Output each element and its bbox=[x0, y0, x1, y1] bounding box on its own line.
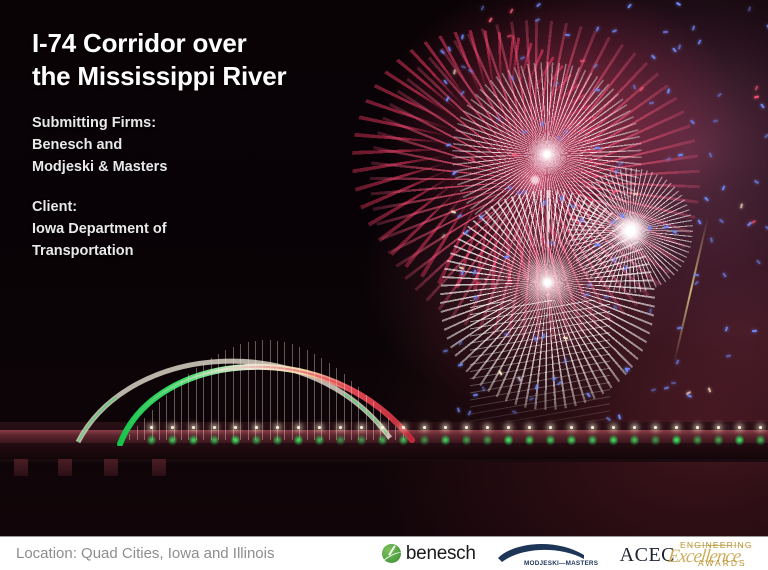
glitter-spark bbox=[666, 157, 671, 161]
glitter-spark bbox=[541, 121, 545, 126]
deck-lamp bbox=[759, 426, 762, 429]
glitter-spark bbox=[639, 86, 644, 91]
glitter-spark bbox=[450, 210, 455, 213]
glitter-spark bbox=[754, 95, 759, 98]
glitter-spark bbox=[565, 34, 570, 36]
glitter-spark bbox=[751, 220, 756, 224]
deck-green-glow bbox=[231, 434, 240, 446]
glitter-spark bbox=[647, 225, 651, 230]
hanger-cable bbox=[344, 374, 345, 440]
glitter-spark bbox=[664, 225, 669, 228]
glitter-spark bbox=[710, 238, 713, 243]
glitter-spark bbox=[587, 282, 592, 287]
glitter-spark bbox=[580, 60, 585, 62]
location-text: Location: Quad Cities, Iowa and Illinois bbox=[16, 545, 274, 562]
glitter-spark bbox=[667, 88, 670, 93]
deck-lamp bbox=[318, 426, 321, 429]
glitter-spark bbox=[740, 204, 743, 209]
deck-lamp bbox=[675, 426, 678, 429]
deck-green-glow bbox=[399, 434, 408, 446]
glitter-spark bbox=[476, 282, 481, 285]
deck-green-glow bbox=[588, 434, 597, 446]
deck-green-glow bbox=[336, 434, 345, 446]
glitter-spark bbox=[722, 272, 727, 277]
deck-green-glow bbox=[273, 434, 282, 446]
submitting-firms-block: Submitting Firms: Benesch and Modjeski &… bbox=[32, 112, 372, 178]
glitter-spark bbox=[595, 147, 600, 149]
benesch-logo: benesch bbox=[382, 544, 476, 563]
hanger-cable bbox=[188, 374, 189, 440]
deck-green-glow bbox=[609, 434, 618, 446]
glitter-spark bbox=[612, 189, 617, 194]
glitter-spark bbox=[560, 195, 563, 200]
hanger-cable bbox=[292, 344, 293, 440]
deck-green-glow bbox=[630, 434, 639, 446]
deck-green-glow bbox=[567, 434, 576, 446]
deck-green-glow bbox=[420, 434, 429, 446]
deck-lamp bbox=[633, 426, 636, 429]
glitter-spark bbox=[672, 48, 677, 53]
glitter-spark bbox=[633, 85, 637, 90]
glitter-spark bbox=[488, 17, 492, 22]
modjeski-wordmark: MODJESKI—MASTERS bbox=[524, 560, 598, 567]
client-block: Client: Iowa Department of Transportatio… bbox=[32, 196, 372, 262]
deck-lamp bbox=[150, 426, 153, 429]
glitter-spark bbox=[719, 218, 724, 223]
deck-lamp bbox=[486, 426, 489, 429]
deck-green-glow bbox=[462, 434, 471, 446]
deck-lamp bbox=[507, 426, 510, 429]
glitter-spark bbox=[698, 39, 702, 44]
deck-lamp bbox=[549, 426, 552, 429]
deck-lamp bbox=[696, 426, 699, 429]
glitter-spark bbox=[633, 192, 638, 195]
glitter-spark bbox=[456, 214, 461, 218]
deck-lamp bbox=[213, 426, 216, 429]
deck-lamp bbox=[192, 426, 195, 429]
deck-lamp bbox=[528, 426, 531, 429]
modjeski-masters-logo: MODJESKI—MASTERS bbox=[498, 541, 598, 567]
glitter-spark bbox=[510, 75, 513, 80]
hanger-cable bbox=[196, 368, 197, 440]
glitter-spark bbox=[690, 119, 695, 124]
deck-lamp bbox=[234, 426, 237, 429]
glitter-spark bbox=[593, 63, 598, 68]
deck-lamp bbox=[339, 426, 342, 429]
deck-green-glow bbox=[714, 434, 723, 446]
glitter-spark bbox=[613, 305, 618, 310]
hanger-cable bbox=[248, 342, 249, 440]
deck-lamp bbox=[402, 426, 405, 429]
glitter-spark bbox=[611, 29, 616, 33]
deck-lamp bbox=[654, 426, 657, 429]
glitter-spark bbox=[570, 204, 575, 209]
hanger-cable bbox=[358, 387, 359, 440]
hanger-cable bbox=[314, 354, 315, 440]
hanger-cable bbox=[307, 350, 308, 440]
deck-green-glow bbox=[504, 434, 513, 446]
acec-line-awards: AWARDS bbox=[698, 558, 747, 568]
glitter-spark bbox=[694, 274, 699, 277]
deck-green-glow bbox=[546, 434, 555, 446]
hanger-cable bbox=[211, 358, 212, 440]
glitter-spark bbox=[722, 186, 726, 191]
submitting-firm-2: Modjeski & Masters bbox=[32, 156, 372, 178]
glitter-spark bbox=[521, 190, 526, 194]
glitter-spark bbox=[510, 8, 514, 13]
hanger-cable bbox=[329, 363, 330, 440]
deck-lamp bbox=[612, 426, 615, 429]
glitter-spark bbox=[764, 134, 768, 139]
deck-green-glow bbox=[147, 434, 156, 446]
glitter-spark bbox=[479, 214, 483, 219]
deck-green-glow bbox=[735, 434, 744, 446]
glitter-spark bbox=[440, 49, 445, 54]
deck-green-glow bbox=[210, 434, 219, 446]
glitter-spark bbox=[441, 233, 446, 238]
glitter-spark bbox=[520, 56, 525, 60]
glitter-spark bbox=[458, 266, 463, 269]
acec-tagline: ENGINEERING Excellence AWARDS bbox=[672, 540, 758, 568]
glitter-spark bbox=[497, 117, 500, 122]
glitter-spark bbox=[580, 217, 584, 222]
glitter-spark bbox=[756, 260, 761, 265]
deck-lamp bbox=[570, 426, 573, 429]
hanger-cable bbox=[388, 418, 389, 440]
glitter-spark bbox=[443, 80, 448, 85]
glitter-spark bbox=[604, 296, 609, 298]
glitter-spark bbox=[464, 229, 469, 234]
glitter-spark bbox=[461, 271, 464, 276]
glitter-spark bbox=[470, 157, 475, 162]
glitter-spark bbox=[507, 34, 512, 37]
glitter-spark bbox=[504, 256, 509, 258]
glitter-spark bbox=[748, 7, 751, 12]
glitter-spark bbox=[651, 54, 656, 59]
hanger-cable bbox=[144, 418, 145, 440]
title-line-2: the Mississippi River bbox=[32, 60, 392, 93]
deck-green-glow bbox=[672, 434, 681, 446]
benesch-mark-icon bbox=[382, 544, 401, 563]
hanger-cable bbox=[270, 340, 271, 440]
glitter-spark bbox=[672, 230, 677, 234]
deck-lamp bbox=[738, 426, 741, 429]
hanger-cable bbox=[284, 342, 285, 440]
deck-lamp bbox=[444, 426, 447, 429]
background-photo: I-74 Corridor over the Mississippi River… bbox=[0, 0, 768, 536]
glitter-spark bbox=[543, 201, 546, 206]
glitter-spark bbox=[611, 220, 616, 225]
glitter-spark bbox=[698, 220, 702, 225]
presentation-slide: I-74 Corridor over the Mississippi River… bbox=[0, 0, 768, 570]
glitter-spark bbox=[595, 243, 600, 246]
glitter-spark bbox=[620, 214, 625, 219]
hanger-cable bbox=[336, 368, 337, 440]
hanger-cable bbox=[262, 340, 263, 440]
hanger-cable bbox=[203, 363, 204, 440]
glitter-spark bbox=[678, 44, 681, 49]
deck-lamp bbox=[381, 426, 384, 429]
glitter-spark bbox=[694, 281, 699, 286]
glitter-spark bbox=[624, 265, 627, 270]
hanger-cable bbox=[129, 434, 130, 440]
deck-lamp bbox=[255, 426, 258, 429]
hanger-cable bbox=[218, 354, 219, 440]
deck-green-glow bbox=[441, 434, 450, 446]
glitter-spark bbox=[663, 30, 668, 32]
glitter-spark bbox=[610, 167, 614, 172]
glitter-spark bbox=[535, 18, 540, 22]
deck-lamp bbox=[465, 426, 468, 429]
deck-green-glow bbox=[189, 434, 198, 446]
glitter-spark bbox=[461, 35, 464, 40]
glitter-spark bbox=[554, 82, 559, 85]
hanger-cable bbox=[159, 402, 160, 440]
deck-lamp bbox=[171, 426, 174, 429]
deck-green-glow bbox=[252, 434, 261, 446]
glitter-spark bbox=[617, 162, 622, 166]
deck-lamp bbox=[591, 426, 594, 429]
glitter-spark bbox=[713, 119, 718, 122]
deck-lamp bbox=[423, 426, 426, 429]
glitter-spark bbox=[480, 5, 484, 10]
glitter-spark bbox=[649, 308, 652, 313]
footer-bar: Location: Quad Cities, Iowa and Illinois… bbox=[0, 536, 768, 570]
deck-green-glow bbox=[357, 434, 366, 446]
glitter-spark bbox=[445, 97, 449, 102]
submitting-firm-1: Benesch and bbox=[32, 134, 372, 156]
bridge bbox=[0, 330, 768, 536]
glitter-spark bbox=[536, 2, 541, 7]
client-name-line-1: Iowa Department of bbox=[32, 218, 372, 240]
hanger-cable bbox=[174, 387, 175, 440]
deck-lamp bbox=[276, 426, 279, 429]
glitter-spark bbox=[557, 135, 561, 140]
hanger-cable bbox=[225, 350, 226, 440]
submitting-firms-label: Submitting Firms: bbox=[32, 112, 372, 134]
glitter-spark bbox=[708, 152, 712, 157]
client-name-line-2: Transportation bbox=[32, 240, 372, 262]
deck-lamp bbox=[717, 426, 720, 429]
deck-green-glow bbox=[483, 434, 492, 446]
glitter-spark bbox=[676, 2, 681, 6]
glitter-spark bbox=[452, 171, 457, 176]
glitter-spark bbox=[628, 3, 633, 8]
glitter-spark bbox=[522, 130, 527, 134]
deck-green-glow bbox=[168, 434, 177, 446]
glitter-spark bbox=[474, 296, 479, 301]
glitter-spark bbox=[564, 129, 567, 134]
glitter-spark bbox=[613, 257, 616, 262]
glitter-spark bbox=[595, 88, 600, 91]
glitter-spark bbox=[460, 90, 465, 95]
glitter-spark bbox=[511, 154, 516, 157]
glitter-spark bbox=[467, 69, 472, 73]
deck-green-glow bbox=[756, 434, 765, 446]
hanger-cable bbox=[351, 381, 352, 440]
glitter-spark bbox=[692, 25, 695, 30]
hanger-cable bbox=[373, 402, 374, 440]
hanger-cable bbox=[321, 358, 322, 440]
client-label: Client: bbox=[32, 196, 372, 218]
glitter-spark bbox=[453, 70, 456, 75]
logo-strip: benesch MODJESKI—MASTERS ACEC ENGINEERIN… bbox=[382, 540, 758, 568]
deck-lamp bbox=[360, 426, 363, 429]
glitter-spark bbox=[678, 153, 683, 156]
glitter-spark bbox=[447, 46, 451, 51]
deck-green-glow bbox=[294, 434, 303, 446]
slide-title: I-74 Corridor over the Mississippi River bbox=[32, 27, 392, 93]
hanger-cable bbox=[366, 395, 367, 440]
deck-green-glow bbox=[651, 434, 660, 446]
glitter-spark bbox=[753, 180, 758, 184]
glitter-spark bbox=[549, 241, 554, 244]
hanger-cable bbox=[395, 426, 396, 440]
glitter-spark bbox=[473, 269, 477, 274]
glitter-spark bbox=[755, 85, 759, 90]
hanger-cable bbox=[181, 381, 182, 440]
slide-metadata: Submitting Firms: Benesch and Modjeski &… bbox=[32, 112, 372, 262]
glitter-spark bbox=[584, 293, 589, 297]
glitter-spark bbox=[717, 93, 722, 98]
deck-green-glow bbox=[693, 434, 702, 446]
glitter-spark bbox=[446, 143, 451, 146]
acec-engineering-excellence-awards-logo: ACEC ENGINEERING Excellence AWARDS bbox=[620, 540, 758, 568]
deck-green-glow bbox=[525, 434, 534, 446]
hanger-cable bbox=[240, 344, 241, 440]
title-line-1: I-74 Corridor over bbox=[32, 27, 392, 60]
glitter-spark bbox=[596, 26, 600, 31]
hanger-cable bbox=[166, 395, 167, 440]
deck-green-glow bbox=[315, 434, 324, 446]
bridge-hanger-cables bbox=[60, 334, 460, 440]
glitter-spark bbox=[649, 102, 654, 105]
glitter-spark bbox=[485, 215, 490, 220]
glitter-spark bbox=[461, 66, 466, 70]
glitter-spark bbox=[761, 103, 765, 108]
deck-green-glow bbox=[378, 434, 387, 446]
deck-lamp bbox=[297, 426, 300, 429]
glitter-spark bbox=[507, 187, 512, 189]
benesch-wordmark: benesch bbox=[406, 544, 476, 563]
hanger-cable bbox=[137, 426, 138, 440]
glitter-spark bbox=[704, 197, 709, 202]
